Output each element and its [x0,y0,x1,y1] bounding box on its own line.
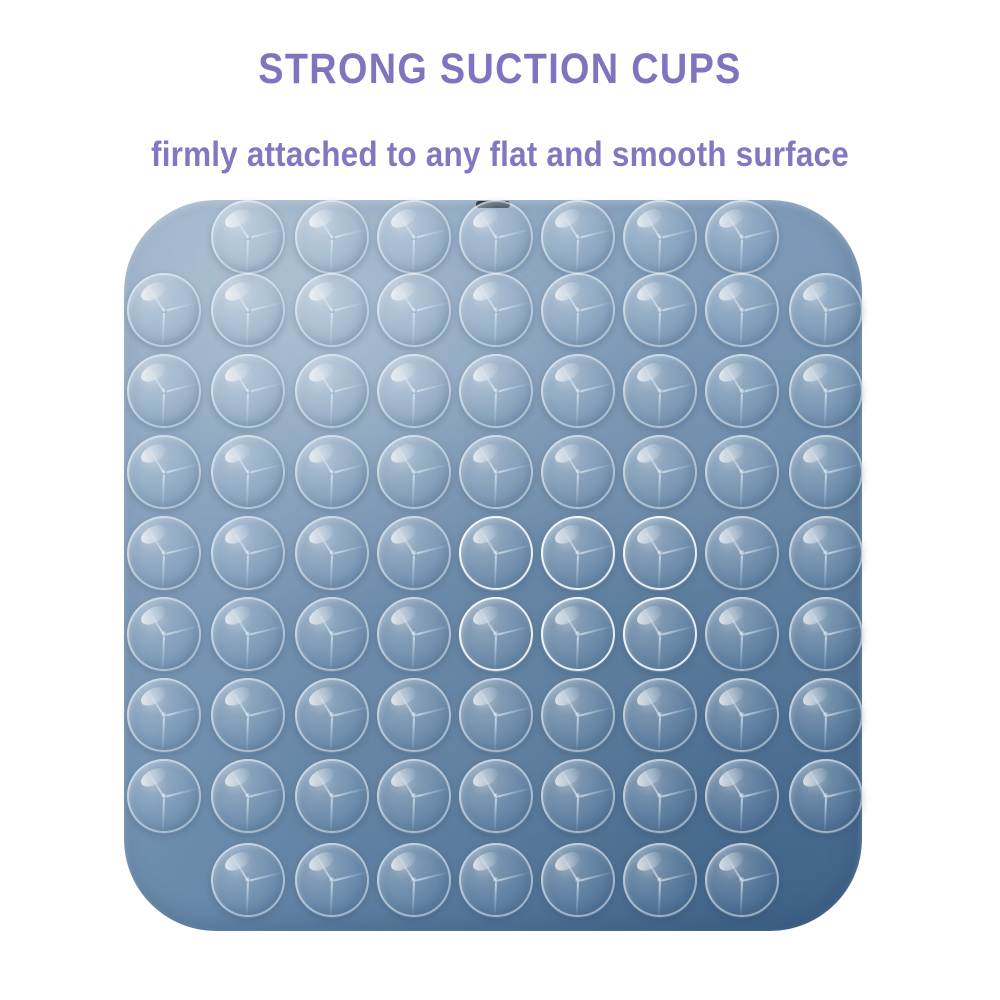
suction-cup-seam-line [162,392,165,428]
suction-cup [623,273,697,347]
suction-cup-center-pip [411,631,417,637]
suction-cup-seam-line [162,554,165,590]
suction-cup [211,678,285,752]
suction-cup-center-pip [575,388,581,394]
suction-cup [541,273,615,347]
suction-cup-center-pip [411,469,417,475]
suction-cup [211,273,285,347]
suction-cup-center-pip [823,469,829,475]
suction-cup-center-pip [161,793,167,799]
suction-cup-seam-line [414,706,450,717]
suction-cup-seam-line [496,228,532,239]
suction-cup-seam-line [414,787,450,798]
suction-cup-seam-line [246,473,249,509]
suction-cup [789,759,863,833]
suction-cup-center-pip [739,712,745,718]
suction-cup-seam-line [246,311,249,347]
suction-cup-seam-line [658,311,661,347]
suction-cup-seam-line [162,716,165,752]
suction-cup-center-pip [657,877,663,883]
suction-cup-center-pip [493,469,499,475]
suction-cup-seam-line [740,635,743,671]
suction-cup [459,516,533,590]
suction-cup [623,597,697,671]
suction-cup [459,273,533,347]
suction-cup-center-pip [657,631,663,637]
suction-cup-seam-line [162,797,165,833]
suction-cup-seam-line [576,473,579,509]
suction-cup-seam-line [246,554,249,590]
suction-cup-center-pip [493,793,499,799]
suction-cup-seam-line [824,797,827,833]
product-feature-image: STRONG SUCTION CUPS firmly attached to a… [0,0,1000,1000]
suction-cup [377,678,451,752]
suction-cup-seam-line [330,797,333,833]
suction-cup-seam-line [412,311,415,347]
suction-cup-seam-line [740,716,743,752]
suction-cup-center-pip [823,712,829,718]
suction-cup [127,354,201,428]
suction-cup-seam-line [658,635,661,671]
suction-cup-center-pip [823,550,829,556]
suction-cup-seam-line [660,706,696,717]
suction-cup-seam-line [164,463,200,474]
suction-cup-center-pip [493,388,499,394]
suction-cup-seam-line [164,625,200,636]
suction-cup-center-pip [329,550,335,556]
suction-cup [623,843,697,917]
suction-cup [541,759,615,833]
suction-cup-seam-line [658,473,661,509]
suction-cup-center-pip [411,877,417,883]
suction-cup [705,597,779,671]
suction-cup-center-pip [657,712,663,718]
suction-cup-center-pip [575,877,581,883]
suction-cup [127,678,201,752]
suction-cup [789,678,863,752]
suction-cup-seam-line [330,554,333,590]
suction-cup-center-pip [575,550,581,556]
suction-cup-seam-line [494,238,497,274]
suction-cup-center-pip [245,469,251,475]
suction-cup [377,273,451,347]
suction-cup-seam-line [496,463,532,474]
suction-cup-center-pip [823,793,829,799]
suction-cup-seam-line [740,238,743,274]
suction-cup-seam-line [578,871,614,882]
suction-cup-seam-line [826,787,862,798]
suction-cup-seam-line [494,716,497,752]
suction-cup-seam-line [576,392,579,428]
suction-cup-seam-line [332,787,368,798]
suction-cup-center-pip [411,234,417,240]
suction-cup-seam-line [576,311,579,347]
suction-cup-seam-line [578,463,614,474]
suction-cup-seam-line [248,301,284,312]
suction-cup-seam-line [330,716,333,752]
page-title: STRONG SUCTION CUPS [60,46,940,93]
suction-cup-seam-line [248,544,284,555]
suction-cup [541,435,615,509]
suction-cup-seam-line [824,311,827,347]
suction-cup-center-pip [411,388,417,394]
suction-cup [127,597,201,671]
suction-cup [211,597,285,671]
suction-cup [211,200,285,274]
suction-cup-seam-line [496,706,532,717]
suction-cup-seam-line [578,544,614,555]
suction-cup-center-pip [245,307,251,313]
suction-cup-seam-line [248,706,284,717]
suction-cup-seam-line [826,706,862,717]
suction-cup-seam-line [576,797,579,833]
suction-cup-seam-line [494,881,497,917]
suction-cup-seam-line [496,871,532,882]
suction-cup-seam-line [660,228,696,239]
suction-cup [295,354,369,428]
suction-cup-seam-line [414,871,450,882]
suction-cup-center-pip [493,631,499,637]
suction-cup-seam-line [658,716,661,752]
suction-cup-center-pip [575,712,581,718]
suction-cup [623,678,697,752]
suction-cup-seam-line [332,228,368,239]
suction-cup [211,435,285,509]
suction-cup-seam-line [576,635,579,671]
suction-cup-seam-line [248,787,284,798]
suction-cup-center-pip [161,307,167,313]
suction-cup-seam-line [496,382,532,393]
suction-cup-seam-line [826,625,862,636]
suction-cup-seam-line [740,392,743,428]
suction-cup-seam-line [658,797,661,833]
suction-cup-center-pip [739,388,745,394]
suction-cup-center-pip [245,550,251,556]
suction-cup-seam-line [164,544,200,555]
suction-cup-seam-line [412,635,415,671]
suction-cup-seam-line [164,301,200,312]
suction-cup-center-pip [329,307,335,313]
suction-cup [541,354,615,428]
suction-cup-seam-line [162,635,165,671]
suction-cup-center-pip [411,307,417,313]
suction-cup-center-pip [657,307,663,313]
suction-cup [623,759,697,833]
suction-cup-seam-line [248,382,284,393]
suction-cup-seam-line [742,228,778,239]
suction-cup-seam-line [412,392,415,428]
suction-cup-seam-line [660,625,696,636]
suction-cup-center-pip [161,469,167,475]
suction-cup-seam-line [412,716,415,752]
suction-cup-seam-line [742,625,778,636]
suction-cup-center-pip [329,388,335,394]
suction-cup-seam-line [826,544,862,555]
suction-cup-seam-line [246,797,249,833]
suction-cup-seam-line [330,473,333,509]
suction-cup-center-pip [657,388,663,394]
suction-cup-center-pip [575,469,581,475]
suction-cup [295,759,369,833]
suction-cup [377,759,451,833]
suction-cup-center-pip [411,793,417,799]
suction-cup-seam-line [824,635,827,671]
suction-cup-center-pip [161,550,167,556]
suction-cup-seam-line [414,625,450,636]
suction-cup-center-pip [161,712,167,718]
suction-cup-seam-line [826,463,862,474]
suction-cup-seam-line [494,392,497,428]
suction-cup-seam-line [742,382,778,393]
suction-cup-center-pip [657,550,663,556]
suction-cup [459,597,533,671]
suction-cup [541,200,615,274]
suction-cup [623,354,697,428]
suction-cup-center-pip [575,631,581,637]
suction-cup [541,597,615,671]
suction-cup-center-pip [493,550,499,556]
suction-cup [377,516,451,590]
suction-cup-center-pip [245,234,251,240]
suction-cup [705,759,779,833]
suction-cup-seam-line [412,238,415,274]
suction-cup-center-pip [739,793,745,799]
suction-cup-seam-line [332,871,368,882]
suction-cup [377,843,451,917]
suction-cup [459,678,533,752]
suction-cup-center-pip [245,793,251,799]
suction-cup-mat [124,200,862,931]
suction-cup [211,516,285,590]
suction-cup [127,273,201,347]
suction-cup [295,516,369,590]
suction-cup-seam-line [246,392,249,428]
suction-cup [789,516,863,590]
suction-cup-seam-line [412,554,415,590]
suction-cup-seam-line [824,716,827,752]
suction-cup-center-pip [329,469,335,475]
suction-cup-center-pip [329,877,335,883]
suction-cup [295,200,369,274]
suction-cup-center-pip [245,388,251,394]
suction-cup-seam-line [330,392,333,428]
suction-cup-seam-line [740,473,743,509]
suction-cup-seam-line [658,238,661,274]
suction-cup-center-pip [739,631,745,637]
suction-cup-seam-line [246,716,249,752]
suction-cup [127,435,201,509]
suction-cup [459,759,533,833]
suction-cup-seam-line [248,871,284,882]
suction-cup-seam-line [740,554,743,590]
suction-cup [377,200,451,274]
suction-cup-seam-line [164,706,200,717]
suction-cup-seam-line [824,554,827,590]
suction-cup-seam-line [578,706,614,717]
suction-cup [459,200,533,274]
suction-cup [211,843,285,917]
suction-cup-seam-line [658,881,661,917]
suction-cup-center-pip [575,793,581,799]
suction-cup-seam-line [824,473,827,509]
suction-cup [541,843,615,917]
suction-cup-center-pip [161,388,167,394]
suction-cup-seam-line [660,463,696,474]
suction-cup-seam-line [576,881,579,917]
suction-cup-seam-line [330,635,333,671]
suction-cup [705,435,779,509]
suction-cup [377,354,451,428]
suction-cup-seam-line [496,787,532,798]
suction-cup-seam-line [332,301,368,312]
suction-cup-seam-line [496,301,532,312]
suction-cup [705,354,779,428]
suction-cup [705,516,779,590]
suction-cup-seam-line [494,311,497,347]
suction-cup-center-pip [739,307,745,313]
suction-cup-seam-line [740,881,743,917]
suction-cup [623,516,697,590]
suction-cup [541,678,615,752]
suction-cup [789,597,863,671]
suction-cup-seam-line [412,881,415,917]
suction-cup-seam-line [740,311,743,347]
suction-cup-seam-line [576,238,579,274]
suction-cup [295,435,369,509]
suction-cup-seam-line [330,311,333,347]
suction-cup [705,843,779,917]
suction-cup-center-pip [329,793,335,799]
suction-cup-center-pip [329,712,335,718]
suction-cup-seam-line [742,787,778,798]
suction-cup-seam-line [494,797,497,833]
suction-cup [295,597,369,671]
suction-cup-seam-line [740,797,743,833]
suction-cup [705,200,779,274]
suction-cup-seam-line [742,463,778,474]
suction-cup-seam-line [248,228,284,239]
suction-cup-center-pip [575,307,581,313]
suction-cup-seam-line [246,238,249,274]
suction-cup-center-pip [657,469,663,475]
suction-cup [789,354,863,428]
suction-cup-center-pip [823,631,829,637]
suction-cup [211,759,285,833]
suction-cup-seam-line [578,382,614,393]
suction-cup-seam-line [494,554,497,590]
suction-cup [541,516,615,590]
suction-cup-seam-line [496,625,532,636]
suction-cup-seam-line [248,463,284,474]
suction-cup-seam-line [412,797,415,833]
suction-cup-seam-line [412,473,415,509]
suction-cup-seam-line [742,301,778,312]
suction-cup-seam-line [332,625,368,636]
suction-cup-center-pip [823,388,829,394]
suction-cup-seam-line [414,228,450,239]
suction-cup-seam-line [414,463,450,474]
suction-cup-center-pip [493,712,499,718]
suction-cup [459,435,533,509]
suction-cup-center-pip [411,550,417,556]
suction-cup-center-pip [245,631,251,637]
suction-cup-center-pip [329,631,335,637]
suction-cup-seam-line [576,716,579,752]
suction-cup [705,678,779,752]
suction-cup-center-pip [575,234,581,240]
suction-cup-seam-line [496,544,532,555]
suction-cup [789,273,863,347]
suction-cup [377,597,451,671]
suction-cup-center-pip [493,234,499,240]
suction-cup [127,516,201,590]
suction-cup-center-pip [411,712,417,718]
suction-cup-seam-line [332,706,368,717]
suction-cup-seam-line [494,635,497,671]
suction-cup-seam-line [414,544,450,555]
suction-cup-seam-line [578,787,614,798]
suction-cup-seam-line [246,635,249,671]
suction-cup-seam-line [164,787,200,798]
suction-cup-seam-line [162,473,165,509]
suction-cup-center-pip [493,877,499,883]
suction-cup-center-pip [739,877,745,883]
suction-cup [295,273,369,347]
suction-cup-center-pip [245,712,251,718]
suction-cup [295,843,369,917]
suction-cup-seam-line [660,544,696,555]
suction-cup-seam-line [332,463,368,474]
suction-cup-seam-line [742,544,778,555]
suction-cup-center-pip [823,307,829,313]
suction-cup [377,435,451,509]
suction-cup [211,354,285,428]
suction-cup-seam-line [824,392,827,428]
suction-cup-seam-line [330,238,333,274]
suction-cup-center-pip [739,469,745,475]
suction-cup-seam-line [164,382,200,393]
suction-cup-seam-line [576,554,579,590]
suction-cup-seam-line [742,706,778,717]
suction-cup-seam-line [578,228,614,239]
suction-cup-seam-line [414,301,450,312]
suction-cup-seam-line [162,311,165,347]
suction-cup-center-pip [245,877,251,883]
suction-cup-seam-line [248,625,284,636]
suction-cup-seam-line [660,787,696,798]
suction-cup-seam-line [330,881,333,917]
suction-cup-center-pip [739,234,745,240]
suction-cup-seam-line [414,382,450,393]
suction-cup-seam-line [332,382,368,393]
suction-cup-seam-line [578,301,614,312]
suction-cup [623,435,697,509]
suction-cup-center-pip [657,793,663,799]
suction-cup-seam-line [246,881,249,917]
suction-cup [127,759,201,833]
suction-cup-seam-line [660,301,696,312]
suction-cup [623,200,697,274]
suction-cup-seam-line [826,301,862,312]
suction-cup-seam-line [826,382,862,393]
suction-cup-seam-line [578,625,614,636]
suction-cup-center-pip [657,234,663,240]
suction-cup-center-pip [493,307,499,313]
suction-cup [459,843,533,917]
suction-cup-center-pip [329,234,335,240]
suction-cup-center-pip [161,631,167,637]
suction-cup-seam-line [660,871,696,882]
